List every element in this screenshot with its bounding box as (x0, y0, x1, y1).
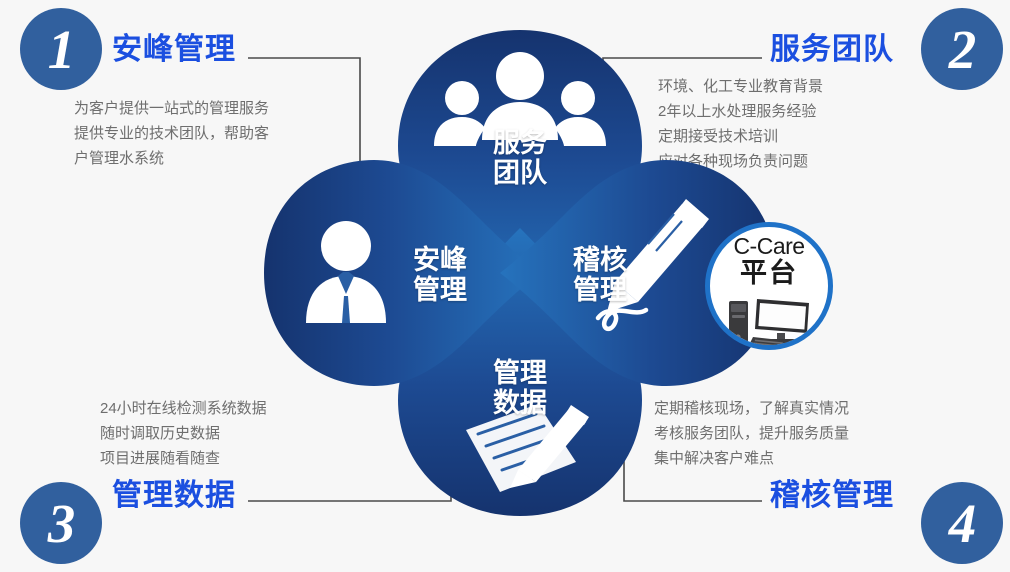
center-hub[interactable]: C-Care 平台 (705, 222, 833, 350)
badge-number-3: 3 (20, 482, 102, 564)
hub-subtitle: 平台 (710, 259, 828, 287)
quadrant-body-1: 为客户提供一站式的管理服务 提供专业的技术团队，帮助客 户管理水系统 (74, 96, 269, 171)
quadrant-body-3-line-1: 24小时在线检测系统数据 (100, 396, 267, 421)
quadrant-title-3: 管理数据 (112, 470, 236, 514)
petal-diagram: 服务 团队 安峰 管理 稽核 管理 管理 数据 C-Care 平台 (250, 18, 790, 528)
hub-brand: C-Care 平台 (710, 234, 828, 287)
petal-label-anfeng-management: 安峰 管理 (380, 245, 500, 305)
petal-label-service-team: 服务 团队 (457, 128, 583, 188)
quadrant-body-1-line-1: 为客户提供一站式的管理服务 (74, 96, 269, 121)
badge-number-2: 2 (921, 8, 1003, 90)
desktop-computer-icon (727, 295, 811, 350)
infographic-canvas: 1 2 3 4 安峰管理 服务团队 管理数据 稽核管理 为客户提供一站式的管理服… (0, 0, 1010, 572)
quadrant-body-3: 24小时在线检测系统数据 随时调取历史数据 项目进展随看随查 (100, 396, 267, 471)
quadrant-body-3-line-3: 项目进展随看随查 (100, 446, 267, 471)
quadrant-body-1-line-2: 提供专业的技术团队，帮助客 (74, 121, 269, 146)
quadrant-title-1: 安峰管理 (112, 24, 236, 68)
hub-brand-name: C-Care (733, 233, 804, 259)
quadrant-body-1-line-3: 户管理水系统 (74, 146, 269, 171)
petal-label-management-data: 管理 数据 (457, 358, 583, 418)
badge-number-1: 1 (20, 8, 102, 90)
quadrant-body-3-line-2: 随时调取历史数据 (100, 421, 267, 446)
petal-label-audit-management: 稽核 管理 (540, 245, 660, 305)
badge-number-4: 4 (921, 482, 1003, 564)
